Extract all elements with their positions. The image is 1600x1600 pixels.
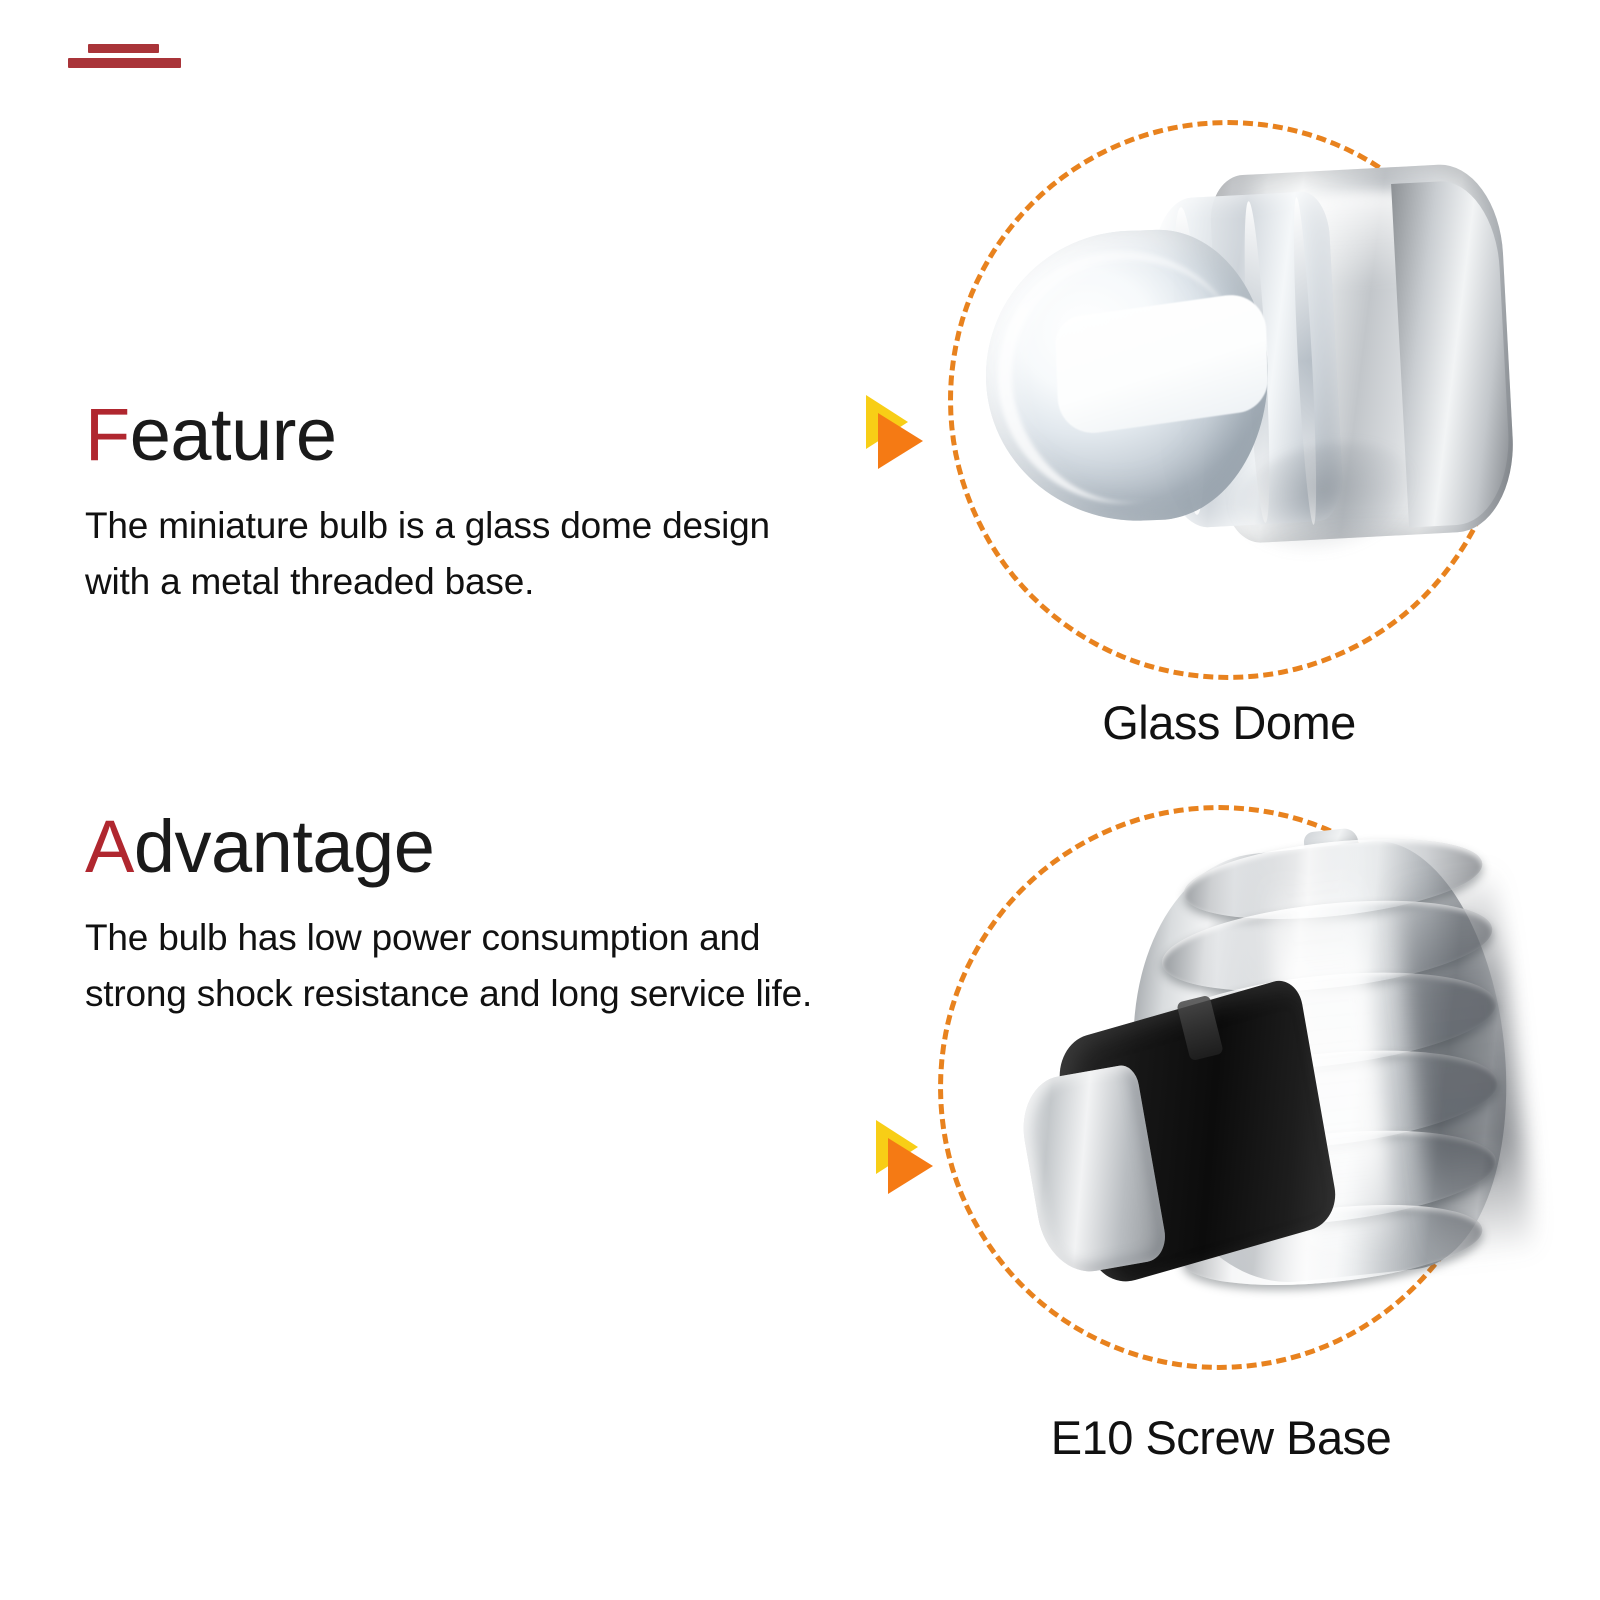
pointer-arrow-icon-screw-base xyxy=(868,1120,938,1200)
pointer-arrow-icon-glass-dome xyxy=(858,395,928,475)
feature-heading: Feature xyxy=(85,398,815,472)
advantage-heading-rest: dvantage xyxy=(134,805,435,888)
feature-heading-initial: F xyxy=(85,393,130,476)
triangle-front-shape xyxy=(878,413,923,469)
feature-heading-rest: eature xyxy=(130,393,337,476)
feature-body-text: The miniature bulb is a glass dome desig… xyxy=(85,498,815,610)
photo-column: Glass Dome xyxy=(830,0,1600,1600)
section-advantage: Advantage The bulb has low power consump… xyxy=(85,810,815,1022)
caption-screw-base: E10 Screw Base xyxy=(836,1410,1600,1465)
figure-screw-base: E10 Screw Base xyxy=(830,760,1600,1520)
screw-base-illustration xyxy=(985,830,1515,1310)
figure-glass-dome: Glass Dome xyxy=(830,75,1600,765)
product-photo-screw-base xyxy=(945,790,1545,1370)
product-photo-glass-dome xyxy=(940,95,1550,675)
advantage-body-text: The bulb has low power consumption and s… xyxy=(85,910,815,1022)
text-column: Feature The miniature bulb is a glass do… xyxy=(0,0,830,1600)
caption-glass-dome: Glass Dome xyxy=(844,695,1600,750)
triangle-front-shape xyxy=(888,1138,933,1194)
advantage-heading: Advantage xyxy=(85,810,815,884)
infographic-page: Feature The miniature bulb is a glass do… xyxy=(0,0,1600,1600)
bulb-illustration xyxy=(980,155,1540,585)
section-feature: Feature The miniature bulb is a glass do… xyxy=(85,398,815,610)
advantage-heading-initial: A xyxy=(85,805,134,888)
